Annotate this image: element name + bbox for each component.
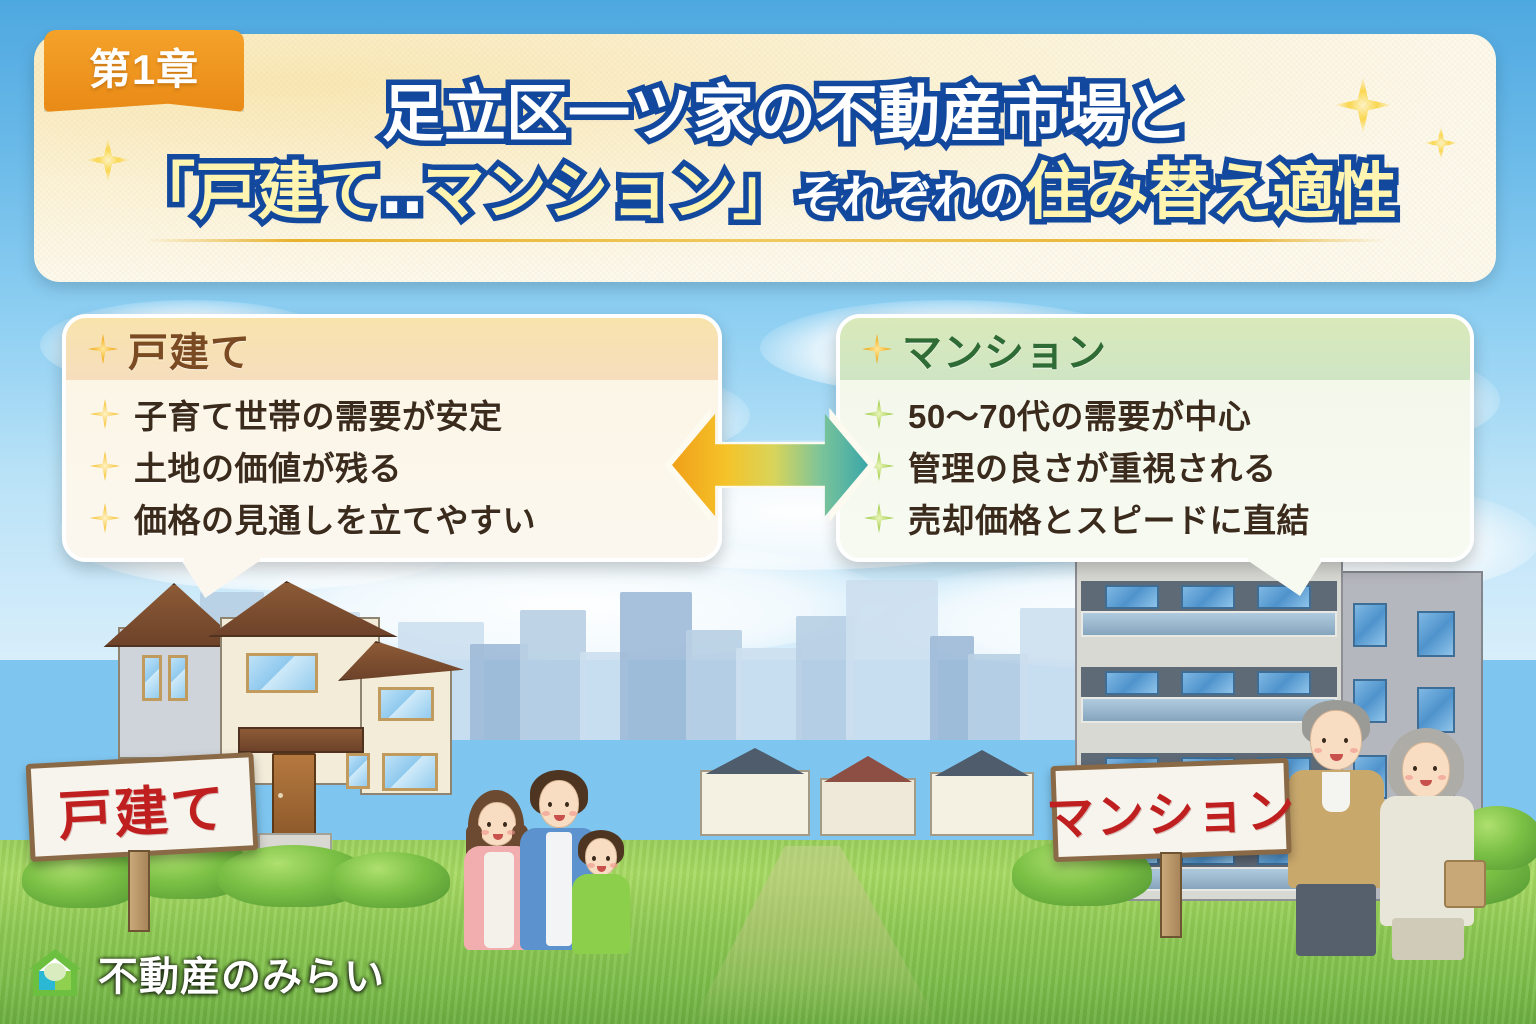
card-kodate-inner: 戸建て 子育て世帯の需要が安定 土地の価値が残る 価格の見通しを立てやすい: [62, 314, 722, 562]
person-senior-man: [1288, 700, 1392, 956]
card-kodate-body: 子育て世帯の需要が安定 土地の価値が残る 価格の見通しを立てやすい: [66, 380, 718, 554]
brand-logo-text: 不動産のみらい: [98, 944, 385, 1002]
card-kodate-heading: 戸建て: [128, 320, 251, 378]
person-senior-woman: [1378, 728, 1482, 960]
card-kodate-header: 戸建て: [66, 318, 718, 380]
sign-panel: マンション: [1050, 758, 1291, 862]
list-item: 子育て世帯の需要が安定: [90, 388, 700, 440]
card-kodate: 戸建て 子育て世帯の需要が安定 土地の価値が残る 価格の見通しを立てやすい: [62, 314, 722, 562]
title-line-1: 足立区一ツ家の不動産市場と: [74, 84, 1496, 146]
sign-panel: 戸建て: [26, 752, 259, 862]
chapter-badge-label: 第1章: [89, 36, 199, 97]
door-handle: [278, 793, 283, 798]
person-child: [572, 830, 634, 952]
sign-left-text: 戸建て: [56, 763, 228, 851]
star-icon: [90, 451, 120, 481]
card-mansion-bullet-3: 売却価格とスピードに直結: [908, 494, 1310, 542]
title-line1-text: 足立区一ツ家の不動産市場と: [382, 80, 1188, 149]
card-mansion-heading: マンション: [902, 320, 1107, 378]
list-item: 売却価格とスピードに直結: [864, 492, 1452, 544]
card-mansion-body: 50〜70代の需要が中心 管理の良さが重視される 売却価格とスピードに直結: [840, 380, 1470, 554]
list-item: 価格の見通しを立てやすい: [90, 492, 700, 544]
card-mansion-inner: マンション 50〜70代の需要が中心 管理の良さが重視される 売却価格とスピード…: [836, 314, 1474, 562]
card-kodate-bullet-2: 土地の価値が残る: [134, 442, 402, 490]
star-icon: [88, 334, 118, 364]
star-icon: [864, 399, 894, 429]
card-mansion: マンション 50〜70代の需要が中心 管理の良さが重視される 売却価格とスピード…: [836, 314, 1474, 562]
title-line2-part-4: それぞれの: [795, 171, 1025, 223]
card-kodate-bullet-3: 価格の見通しを立てやすい: [134, 494, 536, 542]
brand-logo: 不動産のみらい: [26, 944, 385, 1002]
list-item: 土地の価値が残る: [90, 440, 700, 492]
sign-post: [128, 850, 150, 932]
banner-divider: [144, 239, 1386, 242]
infographic-canvas: 戸建て マンション 足立区一ツ家の不動産市場と 「戸建て‥マンション」それぞれの…: [0, 0, 1536, 1024]
title-line2-part-3: マンション」: [423, 158, 795, 227]
sign-kodate: 戸建て: [28, 758, 268, 908]
title-text-block: 足立区一ツ家の不動産市場と 「戸建て‥マンション」それぞれの住み替え適性: [34, 84, 1496, 224]
sign-mansion: マンション: [1052, 762, 1302, 912]
handbag: [1444, 860, 1486, 908]
shrub: [330, 852, 450, 908]
card-mansion-bullet-1: 50〜70代の需要が中心: [908, 390, 1251, 438]
title-line-2: 「戸建て‥マンション」それぞれの住み替え適性: [34, 162, 1496, 224]
star-icon: [864, 503, 894, 533]
list-item: 管理の良さが重視される: [864, 440, 1452, 492]
title-banner: 足立区一ツ家の不動産市場と 「戸建て‥マンション」それぞれの住み替え適性: [34, 34, 1496, 282]
star-icon: [90, 503, 120, 533]
sign-right-text: マンション: [1045, 771, 1297, 850]
title-line2-part-1: 「戸建て: [133, 158, 381, 227]
card-mansion-header: マンション: [840, 318, 1470, 380]
star-icon: [90, 399, 120, 429]
title-line2-part-2: ‥: [381, 158, 422, 227]
list-item: 50〜70代の需要が中心: [864, 388, 1452, 440]
chapter-badge: 第1章: [44, 30, 244, 112]
house-icon: [26, 946, 84, 1000]
card-mansion-bullet-2: 管理の良さが重視される: [908, 442, 1277, 490]
star-icon: [862, 334, 892, 364]
sign-post: [1160, 852, 1182, 938]
title-line2-part-5: 住み替え適性: [1025, 158, 1397, 227]
card-kodate-bullet-1: 子育て世帯の需要が安定: [134, 390, 503, 438]
